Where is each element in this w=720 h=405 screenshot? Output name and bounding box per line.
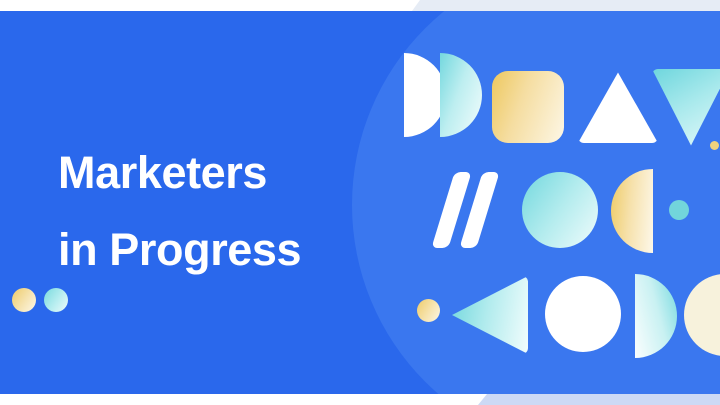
dot-yellow-tiny	[710, 141, 719, 150]
banner-background: Marketers in Progress	[0, 11, 720, 394]
rounded-square-yellow	[492, 71, 564, 143]
headline-line-1: Marketers	[58, 135, 358, 212]
circle-white-large	[545, 276, 621, 352]
promo-banner: Marketers in Progress	[0, 0, 720, 405]
dot-cyan-small	[669, 200, 689, 220]
headline-line-2: in Progress	[58, 212, 358, 289]
accent-dot-yellow	[12, 288, 36, 312]
page-title: Marketers in Progress	[58, 135, 358, 288]
dot-yellow-small	[417, 299, 440, 322]
accent-dot-cyan	[44, 288, 68, 312]
circle-cyan-large	[522, 172, 598, 248]
